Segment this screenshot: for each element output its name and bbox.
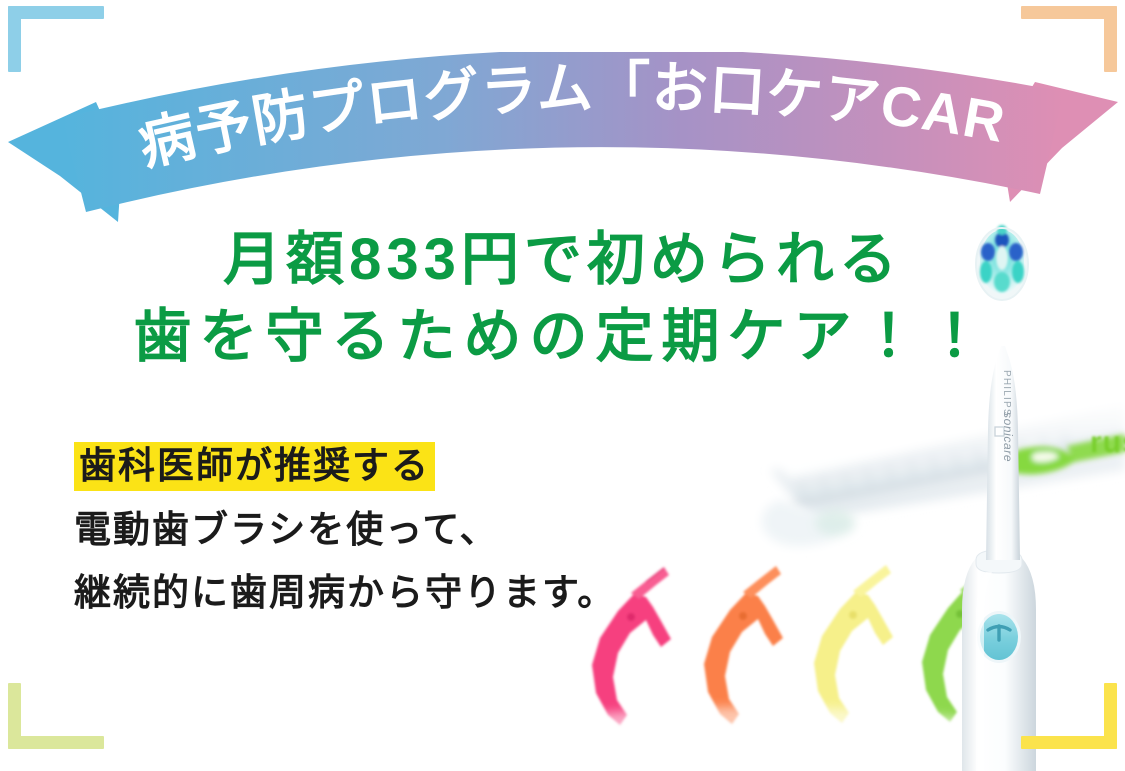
svg-text:rus: rus bbox=[1090, 426, 1125, 459]
body-copy-line-1: 歯科医師が推奨する bbox=[74, 440, 714, 493]
brush-brand-text: PHILIPS sonicare bbox=[1001, 370, 1015, 462]
case-green-graphic bbox=[1008, 434, 1125, 474]
body-copy: 歯科医師が推奨する 電動歯ブラシを使って、 継続的に歯周病から守ります。 bbox=[74, 440, 714, 631]
floss-pick-green bbox=[922, 564, 1000, 722]
floss-pick-orange bbox=[704, 566, 783, 724]
highlighted-text: 歯科医師が推奨する bbox=[74, 442, 435, 491]
case-brand-text: rus bbox=[1090, 426, 1125, 459]
promo-banner: rus bbox=[0, 0, 1125, 771]
body-copy-line-2: 電動歯ブラシを使って、 bbox=[74, 504, 714, 557]
ribbon-svg: 歯周病予防プログラム「お口ケアCARE」 bbox=[0, 52, 1125, 237]
brush-stem-marker bbox=[995, 427, 1004, 436]
corner-bracket-bottom-right bbox=[1021, 683, 1117, 749]
body-copy-line-3: 継続的に歯周病から守ります。 bbox=[74, 567, 714, 620]
case-tube bbox=[762, 500, 858, 546]
svg-text:PHILIPS: PHILIPS bbox=[1001, 370, 1012, 417]
corner-bracket-bottom-left bbox=[8, 683, 104, 749]
headline: 月額833円で初められる 歯を守るための定期ケア！！ bbox=[0, 222, 1125, 375]
ribbon-banner: 歯周病予防プログラム「お口ケアCARE」 bbox=[0, 52, 1125, 237]
travel-case bbox=[770, 393, 1125, 520]
power-button bbox=[977, 611, 1021, 663]
floss-pick-yellow bbox=[814, 565, 893, 723]
headline-line-2: 歯を守るための定期ケア！！ bbox=[0, 299, 1125, 376]
headline-line-1: 月額833円で初められる bbox=[0, 222, 1125, 299]
svg-text:sonicare: sonicare bbox=[1001, 412, 1015, 462]
